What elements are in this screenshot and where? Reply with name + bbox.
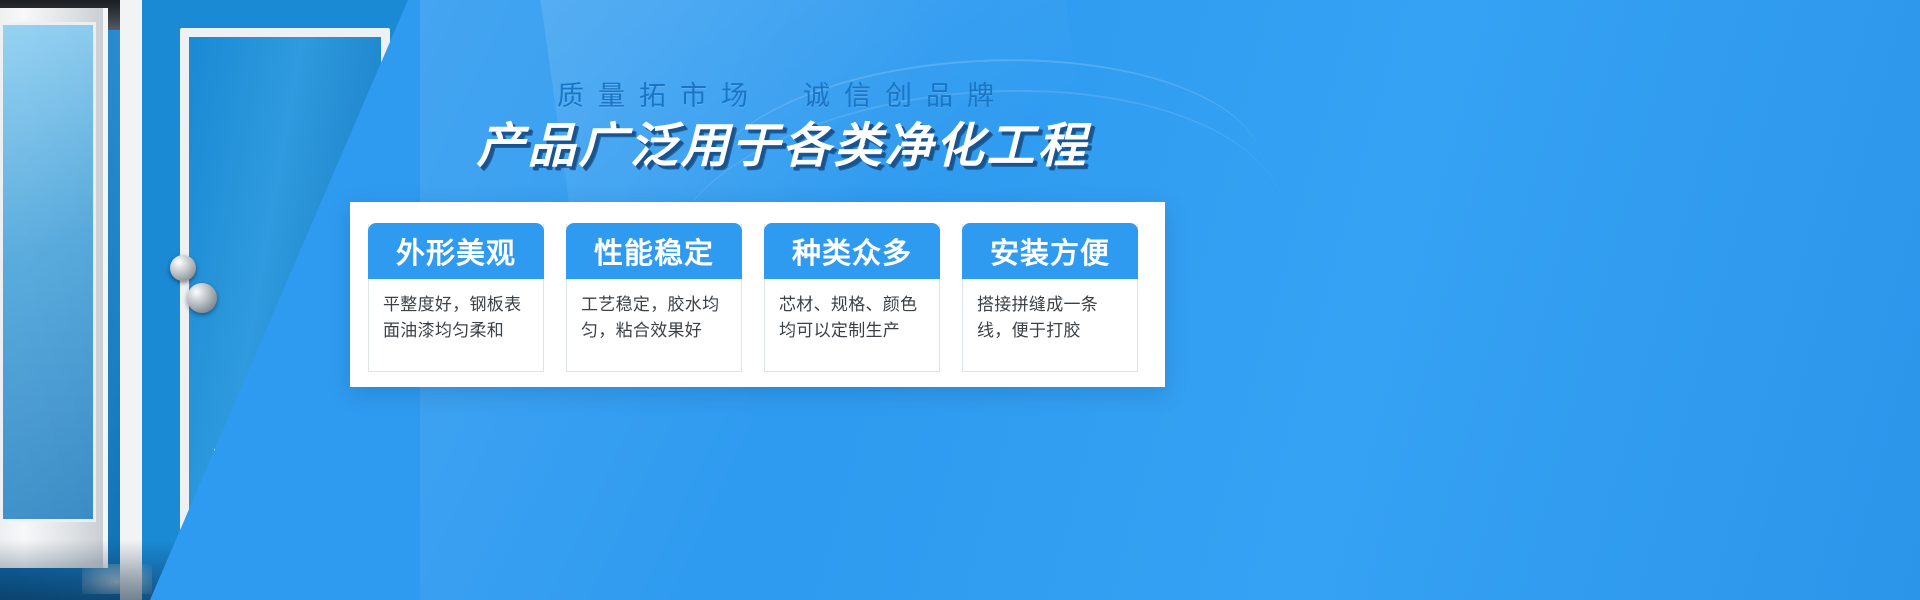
feature-card-title: 性能稳定 (566, 223, 742, 279)
feature-card[interactable]: 性能稳定 工艺稳定，胶水均匀，粘合效果好 (566, 224, 742, 372)
feature-card[interactable]: 外形美观 平整度好，钢板表面油漆均匀柔和 (368, 224, 544, 372)
feature-card-title: 安装方便 (962, 223, 1138, 279)
cabin-unit-one (0, 8, 108, 568)
feature-card-desc: 工艺稳定，胶水均匀，粘合效果好 (567, 279, 741, 371)
feature-cards-row: 外形美观 平整度好，钢板表面油漆均匀柔和 性能稳定 工艺稳定，胶水均匀，粘合效果… (368, 224, 1138, 372)
promo-banner: 质量拓市场 诚信创品牌 产品广泛用于各类净化工程 外形美观 平整度好，钢板表面油… (0, 0, 1920, 600)
cabin-glass-panel (0, 22, 96, 522)
feature-card-title: 外形美观 (368, 223, 544, 279)
feature-card[interactable]: 安装方便 搭接拼缝成一条线，便于打胶 (962, 224, 1138, 372)
feature-card-desc: 搭接拼缝成一条线，便于打胶 (963, 279, 1137, 371)
feature-card-desc: 芯材、规格、颜色均可以定制生产 (765, 279, 939, 371)
feature-card[interactable]: 种类众多 芯材、规格、颜色均可以定制生产 (764, 224, 940, 372)
door-handle-icon (187, 283, 217, 313)
feature-cards-panel: 外形美观 平整度好，钢板表面油漆均匀柔和 性能稳定 工艺稳定，胶水均匀，粘合效果… (350, 202, 1165, 387)
feature-card-title: 种类众多 (764, 223, 940, 279)
feature-card-desc: 平整度好，钢板表面油漆均匀柔和 (369, 279, 543, 371)
door-lock-icon (170, 255, 196, 281)
